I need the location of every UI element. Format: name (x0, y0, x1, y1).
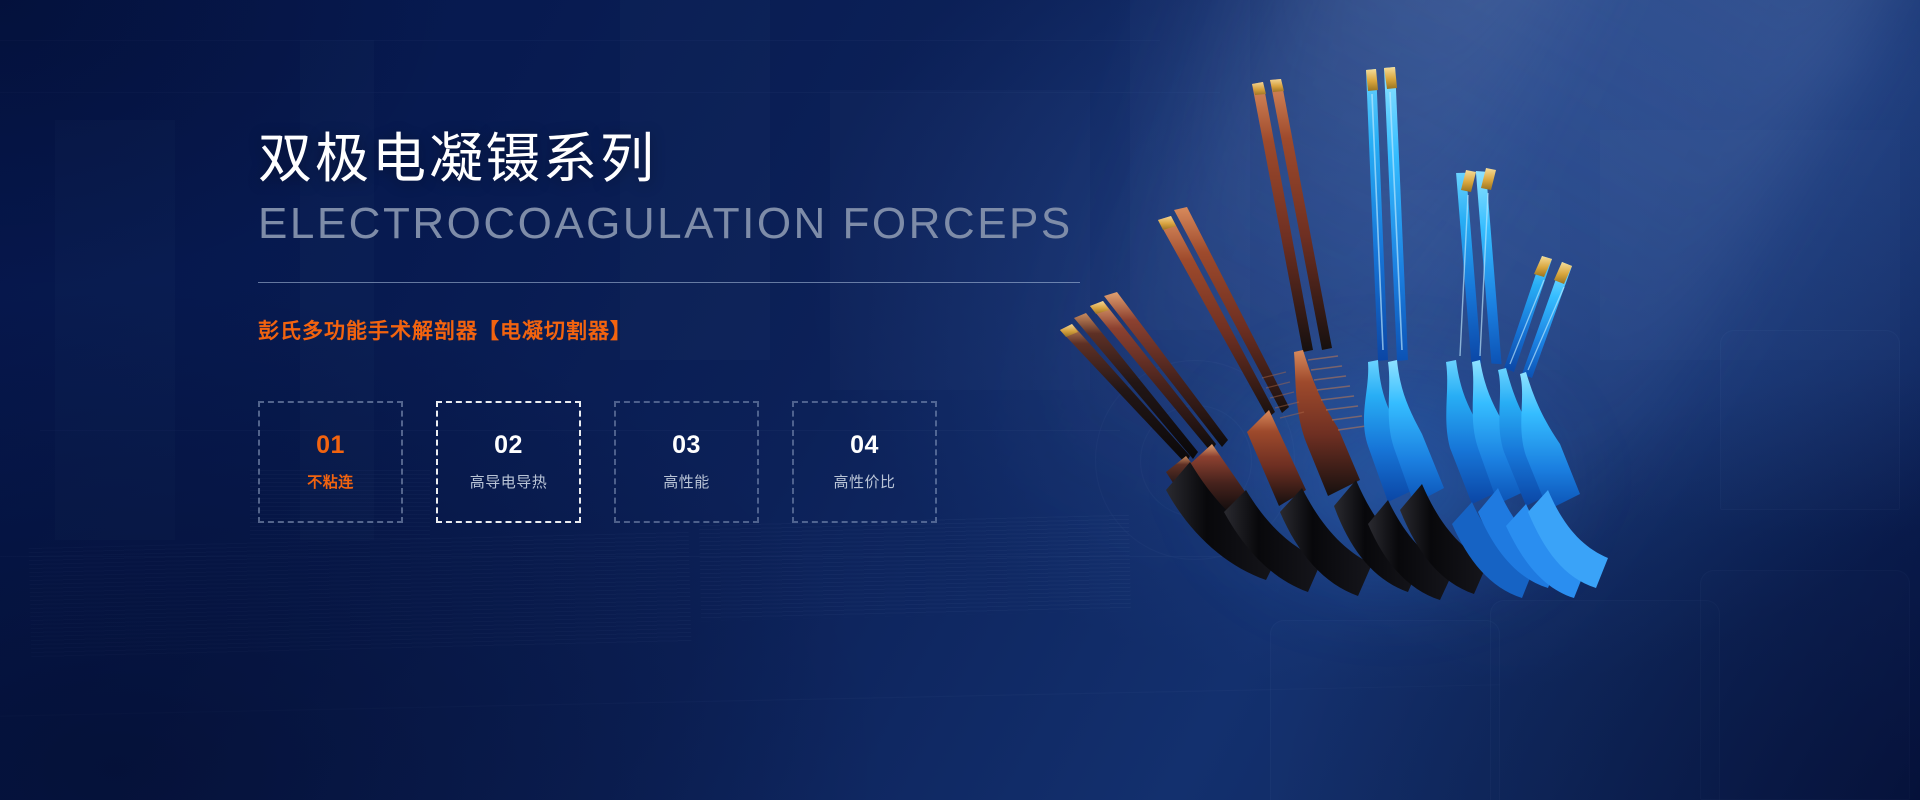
page-title-cn: 双极电凝镊系列 (258, 128, 1158, 192)
feature-number: 04 (850, 433, 879, 458)
feature-card-02[interactable]: 02 高导电导热 (436, 401, 581, 523)
feature-label: 不粘连 (307, 475, 354, 490)
forceps-product-image (1070, 60, 1690, 620)
product-glow (1180, 330, 1600, 630)
feature-list: 01 不粘连 02 高导电导热 03 高性能 04 高性价比 (258, 401, 1158, 523)
page-subtitle: 彭氏多功能手术解剖器【电凝切割器】 (258, 317, 1158, 346)
feature-number: 03 (672, 433, 701, 458)
feature-label: 高导电导热 (470, 475, 548, 490)
product-banner: 双极电凝镊系列 ELECTROCOAGULATION FORCEPS 彭氏多功能… (0, 0, 1920, 800)
feature-label: 高性价比 (833, 475, 895, 490)
feature-card-03[interactable]: 03 高性能 (614, 401, 759, 523)
feature-number: 02 (494, 433, 523, 458)
feature-card-04[interactable]: 04 高性价比 (792, 401, 937, 523)
feature-number: 01 (316, 433, 345, 458)
feature-label: 高性能 (663, 475, 710, 490)
forceps-blue-group (1364, 67, 1580, 510)
forceps-handle-base (1166, 462, 1608, 600)
feature-card-01[interactable]: 01 不粘连 (258, 401, 403, 523)
banner-content: 双极电凝镊系列 ELECTROCOAGULATION FORCEPS 彭氏多功能… (258, 128, 1158, 523)
page-title-en: ELECTROCOAGULATION FORCEPS (258, 200, 1158, 248)
title-divider (258, 282, 1080, 283)
